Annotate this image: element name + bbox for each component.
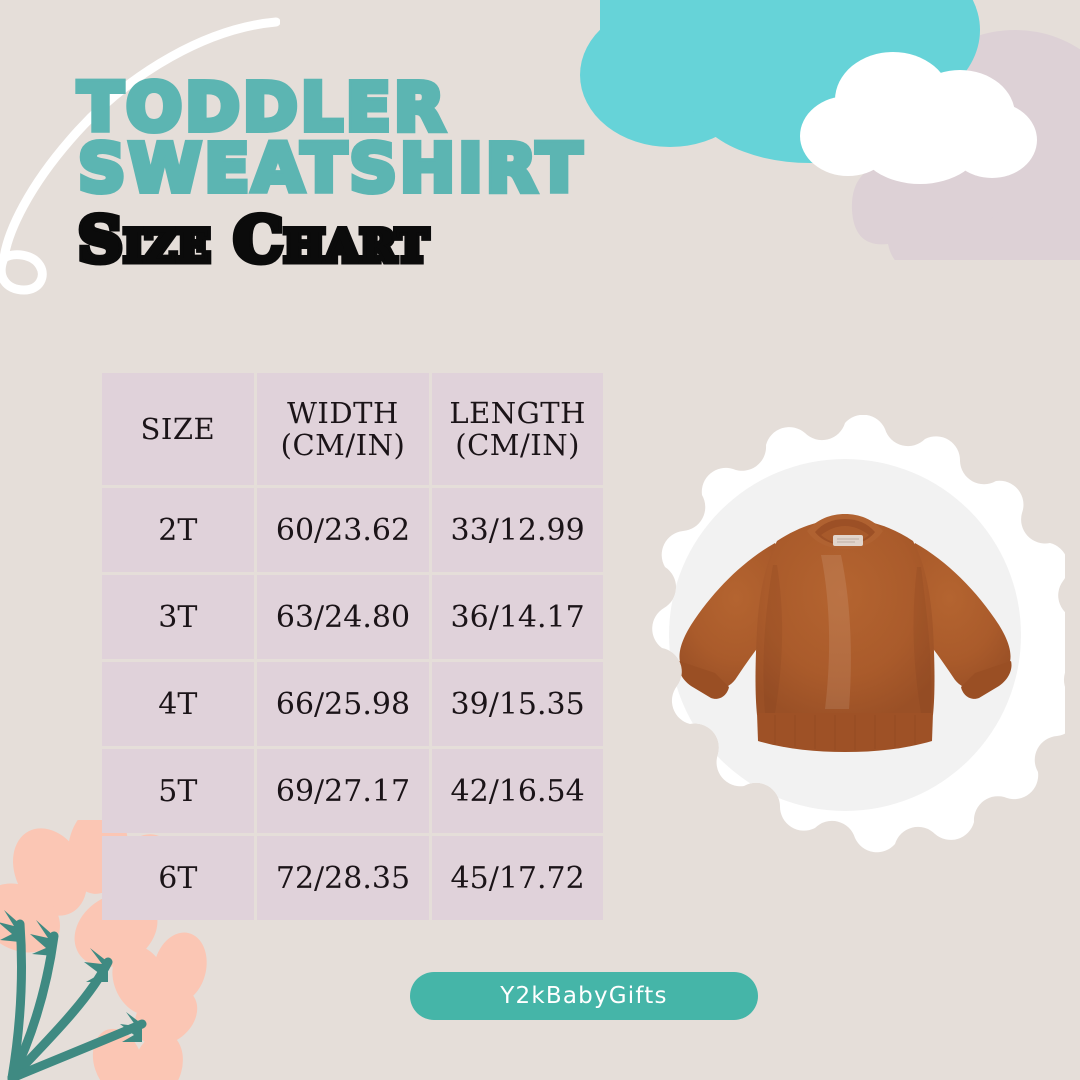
brand-badge[interactable]: Y2kBabyGifts [410, 972, 758, 1020]
column-header-size: SIZE [102, 373, 254, 485]
table-row: 6T 72/28.35 45/17.72 [102, 836, 603, 920]
toddler-sweatshirt-photo [625, 415, 1065, 855]
table-header: SIZE WIDTH (CM/IN) LENGTH (CM/IN) [102, 373, 603, 485]
cell-length: 42/16.54 [432, 749, 603, 833]
cell-length: 45/17.72 [432, 836, 603, 920]
cell-size: 5T [102, 749, 254, 833]
cell-size: 3T [102, 575, 254, 659]
table-row: 3T 63/24.80 36/14.17 [102, 575, 603, 659]
table-row: 4T 66/25.98 39/15.35 [102, 662, 603, 746]
cell-width: 69/27.17 [257, 749, 430, 833]
title-line-sweatshirt: SWEATSHIRT [78, 139, 758, 200]
size-chart-canvas: TODDLER SWEATSHIRT Size Chart SIZE WIDTH… [0, 0, 1080, 1080]
size-chart-table: SIZE WIDTH (CM/IN) LENGTH (CM/IN) 2T 60/… [99, 370, 606, 923]
cell-length: 39/15.35 [432, 662, 603, 746]
column-header-length-unit: (CM/IN) [436, 429, 599, 461]
page-subtitle-size-chart: Size Chart [78, 209, 758, 271]
photo-area [669, 459, 1021, 811]
column-header-width-unit: (CM/IN) [261, 429, 426, 461]
table-row: 5T 69/27.17 42/16.54 [102, 749, 603, 833]
cell-width: 66/25.98 [257, 662, 430, 746]
column-header-width-main: WIDTH [261, 397, 426, 429]
table-header-row: SIZE WIDTH (CM/IN) LENGTH (CM/IN) [102, 373, 603, 485]
column-header-length-main: LENGTH [436, 397, 599, 429]
flower-buds-group [0, 910, 142, 1042]
cell-size: 4T [102, 662, 254, 746]
cell-length: 36/14.17 [432, 575, 603, 659]
column-header-length: LENGTH (CM/IN) [432, 373, 603, 485]
table-row: 2T 60/23.62 33/12.99 [102, 488, 603, 572]
page-title-block: TODDLER SWEATSHIRT Size Chart [78, 78, 758, 271]
swoosh-loop-icon [1, 255, 42, 290]
product-photo-frame [625, 415, 1065, 855]
cell-width: 60/23.62 [257, 488, 430, 572]
brand-badge-label: Y2kBabyGifts [500, 983, 667, 1009]
cell-width: 63/24.80 [257, 575, 430, 659]
cell-length: 33/12.99 [432, 488, 603, 572]
cloud-lavender-icon [852, 30, 1080, 260]
column-header-width: WIDTH (CM/IN) [257, 373, 430, 485]
cell-size: 2T [102, 488, 254, 572]
table-body: 2T 60/23.62 33/12.99 3T 63/24.80 36/14.1… [102, 488, 603, 920]
cell-size: 6T [102, 836, 254, 920]
cell-width: 72/28.35 [257, 836, 430, 920]
cloud-white-icon [800, 52, 1037, 184]
flower-stems-group [12, 924, 142, 1078]
